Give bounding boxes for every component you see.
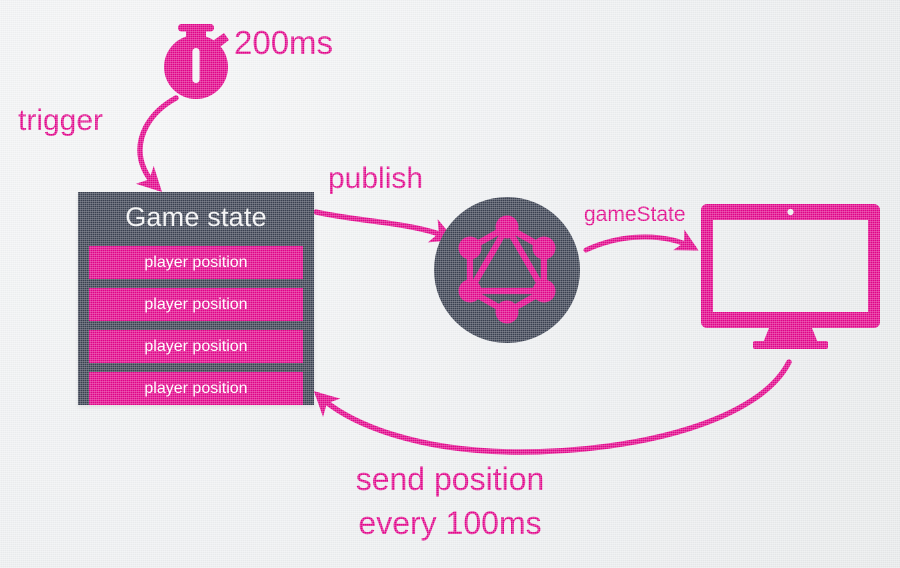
diagram-canvas: Game state player position player positi… bbox=[0, 0, 900, 568]
send-position-label: send position every 100ms bbox=[0, 462, 900, 542]
trigger-arrow bbox=[140, 98, 176, 188]
player-position-row: player position bbox=[89, 288, 303, 321]
game-state-title: Game state bbox=[89, 197, 303, 237]
player-position-row: player position bbox=[89, 246, 303, 279]
player-position-row: player position bbox=[89, 372, 303, 405]
send-position-line-1: send position bbox=[0, 462, 900, 498]
publish-label: publish bbox=[328, 162, 423, 196]
send-position-line-2: every 100ms bbox=[0, 506, 900, 542]
stopwatch-icon bbox=[164, 24, 229, 99]
player-position-row: player position bbox=[89, 330, 303, 363]
publish-arrow bbox=[316, 212, 450, 238]
send-position-arrow bbox=[318, 362, 789, 452]
monitor-icon bbox=[701, 204, 880, 349]
trigger-label: trigger bbox=[18, 104, 103, 138]
graphql-logo-icon bbox=[434, 197, 580, 343]
gamestate-arrow bbox=[586, 237, 694, 250]
timer-duration-label: 200ms bbox=[234, 25, 333, 62]
gamestate-label: gameState bbox=[584, 203, 686, 227]
game-state-panel: Game state player position player positi… bbox=[78, 192, 314, 405]
